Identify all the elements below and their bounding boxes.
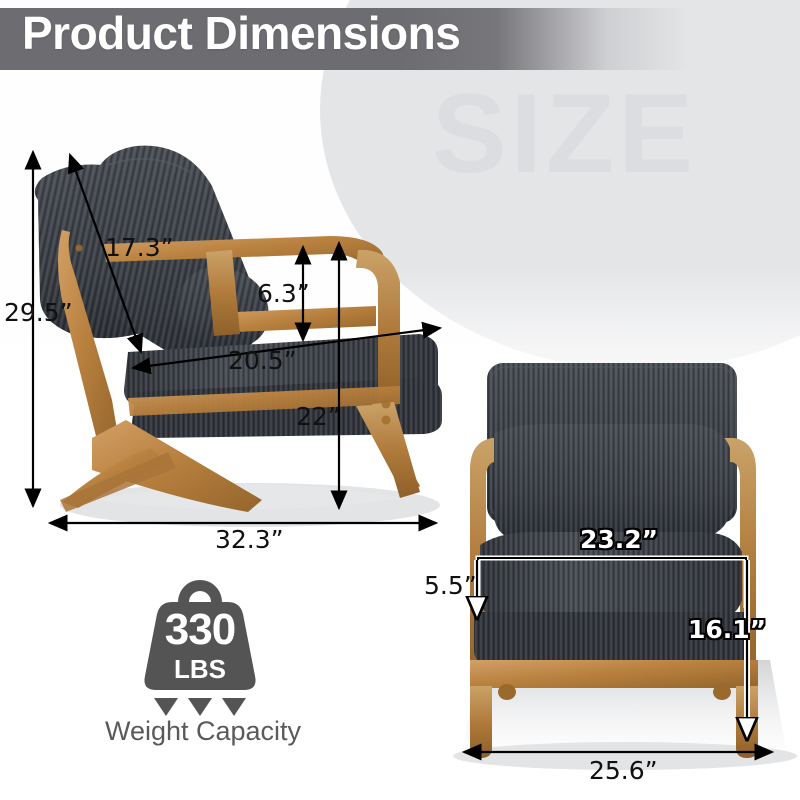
- dim-arm-height: 22”: [296, 404, 341, 429]
- dim-seat-width: 23.2”: [580, 527, 658, 552]
- weight-caption: Weight Capacity: [8, 718, 398, 745]
- product-dimensions-infographic: SIZE Product Dimensions: [0, 0, 800, 800]
- front-apron-rail: [470, 660, 758, 688]
- front-view-chair: [453, 363, 797, 770]
- dim-seat-height: 16.1”: [688, 617, 766, 642]
- weight-unit: LBS: [100, 656, 300, 682]
- dim-cushion-thickness: 5.5”: [424, 573, 477, 598]
- side-view-chair: [33, 146, 442, 527]
- front-left-leg: [470, 686, 492, 758]
- dim-seat-depth: 20.5”: [228, 348, 297, 373]
- dim-backrest-height: 17.3”: [105, 235, 174, 260]
- weight-capacity-block: 330 LBS Weight Capacity: [100, 580, 350, 760]
- dim-cushion-height: 6.3”: [257, 281, 310, 306]
- dim-overall-height: 29.5”: [4, 300, 73, 325]
- dim-overall-width: 25.6”: [589, 758, 658, 783]
- dim-overall-depth: 32.3”: [215, 527, 284, 552]
- weight-value: 330: [100, 608, 300, 652]
